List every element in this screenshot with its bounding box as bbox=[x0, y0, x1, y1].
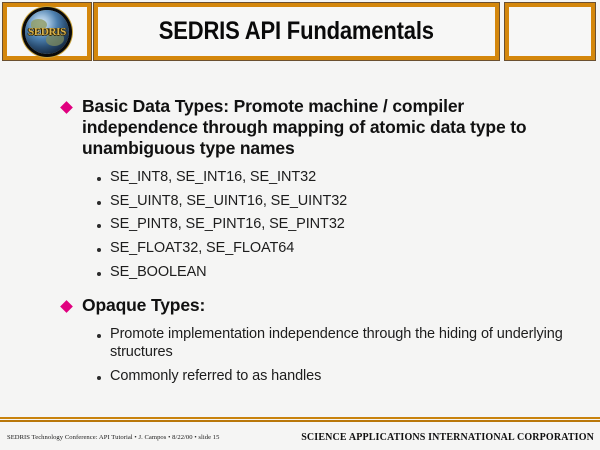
slide-header: SEDRIS SEDRIS API Fundamentals bbox=[0, 0, 600, 63]
list-item-label: SE_FLOAT32, SE_FLOAT64 bbox=[110, 240, 294, 258]
list-item-label: Commonly referred to as handles bbox=[110, 368, 321, 386]
list-item-label: SE_BOOLEAN bbox=[110, 264, 207, 282]
list-item-label: SE_PINT8, SE_PINT16, SE_PINT32 bbox=[110, 216, 345, 234]
round-bullet-icon bbox=[97, 201, 101, 205]
list-item: SE_INT8, SE_INT16, SE_INT32 bbox=[0, 169, 600, 187]
round-bullet-icon bbox=[97, 224, 101, 228]
list-item: SE_BOOLEAN bbox=[0, 264, 600, 282]
round-bullet-icon bbox=[97, 334, 101, 338]
footer-organization: SCIENCE APPLICATIONS INTERNATIONAL CORPO… bbox=[301, 432, 594, 443]
bullet-text: Opaque Types: bbox=[82, 295, 205, 316]
bullet-item-basic-data-types: Basic Data Types: Promote machine / comp… bbox=[0, 96, 600, 159]
list-item: Commonly referred to as handles bbox=[0, 368, 600, 386]
logo-box: SEDRIS bbox=[3, 3, 91, 60]
slide-footer: SEDRIS Technology Conference: API Tutori… bbox=[0, 425, 600, 450]
list-item: Promote implementation independence thro… bbox=[0, 326, 600, 361]
list-item: SE_UINT8, SE_UINT16, SE_UINT32 bbox=[0, 193, 600, 211]
round-bullet-icon bbox=[97, 248, 101, 252]
page-title: SEDRIS API Fundamentals bbox=[159, 17, 434, 46]
round-bullet-icon bbox=[97, 177, 101, 181]
list-item-label: SE_UINT8, SE_UINT16, SE_UINT32 bbox=[110, 193, 347, 211]
sublist-basic-data-types: SE_INT8, SE_INT16, SE_INT32 SE_UINT8, SE… bbox=[0, 169, 600, 281]
list-item-label: Promote implementation independence thro… bbox=[110, 326, 582, 361]
logo-wordmark: SEDRIS bbox=[25, 26, 69, 38]
title-box: SEDRIS API Fundamentals bbox=[94, 3, 499, 60]
slide-content: Basic Data Types: Promote machine / comp… bbox=[0, 72, 600, 410]
sedris-globe-logo-icon: SEDRIS bbox=[25, 10, 69, 54]
round-bullet-icon bbox=[97, 376, 101, 380]
footer-divider bbox=[0, 417, 600, 422]
bullet-text: Basic Data Types: Promote machine / comp… bbox=[82, 96, 582, 159]
diamond-bullet-icon bbox=[60, 301, 73, 314]
header-corner-placeholder-box bbox=[505, 3, 595, 60]
list-item: SE_FLOAT32, SE_FLOAT64 bbox=[0, 240, 600, 258]
bullet-item-opaque-types: Opaque Types: bbox=[0, 295, 600, 316]
sublist-opaque-types: Promote implementation independence thro… bbox=[0, 326, 600, 385]
footer-attribution: SEDRIS Technology Conference: API Tutori… bbox=[7, 434, 219, 441]
diamond-bullet-icon bbox=[60, 101, 73, 114]
list-item: SE_PINT8, SE_PINT16, SE_PINT32 bbox=[0, 216, 600, 234]
round-bullet-icon bbox=[97, 272, 101, 276]
list-item-label: SE_INT8, SE_INT16, SE_INT32 bbox=[110, 169, 316, 187]
footer-rule-lower bbox=[0, 420, 600, 422]
